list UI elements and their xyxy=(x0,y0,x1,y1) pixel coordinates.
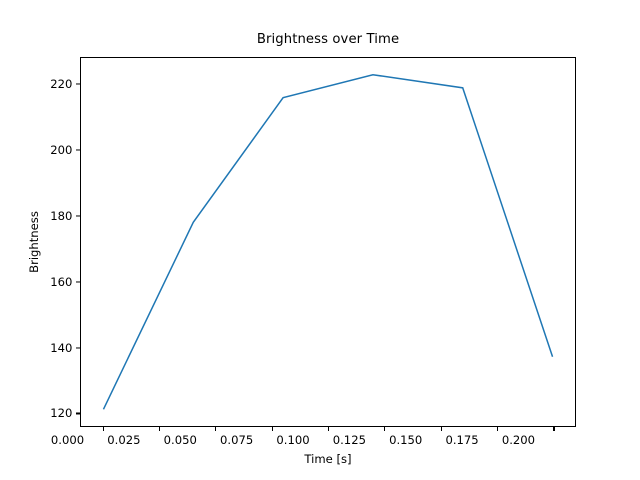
x-tick-mark xyxy=(328,427,329,431)
plot-area xyxy=(80,57,576,427)
page-title: Brightness over Time xyxy=(80,32,576,47)
y-tick-label: 180 xyxy=(12,209,72,223)
x-tick-mark xyxy=(441,427,442,431)
x-axis-label: Time [s] xyxy=(80,452,576,466)
y-tick-label: 220 xyxy=(12,77,72,91)
x-tick-mark xyxy=(272,427,273,431)
y-tick-label: 120 xyxy=(12,406,72,420)
x-tick-label: 0.200 xyxy=(483,433,553,447)
y-tick-label: 200 xyxy=(12,143,72,157)
x-tick-mark xyxy=(215,427,216,431)
x-tick-mark xyxy=(497,427,498,431)
x-tick-mark xyxy=(159,427,160,431)
line-chart-canvas xyxy=(81,58,575,426)
y-tick-label: 160 xyxy=(12,275,72,289)
x-tick-mark xyxy=(103,427,104,431)
data-series-brightness xyxy=(103,75,552,410)
x-tick-mark xyxy=(553,427,554,431)
y-axis-label: Brightness xyxy=(26,57,42,427)
x-tick-mark xyxy=(384,427,385,431)
y-tick-label: 140 xyxy=(12,341,72,355)
matplotlib-figure: Brightness over Time Brightness 12014016… xyxy=(0,0,640,480)
